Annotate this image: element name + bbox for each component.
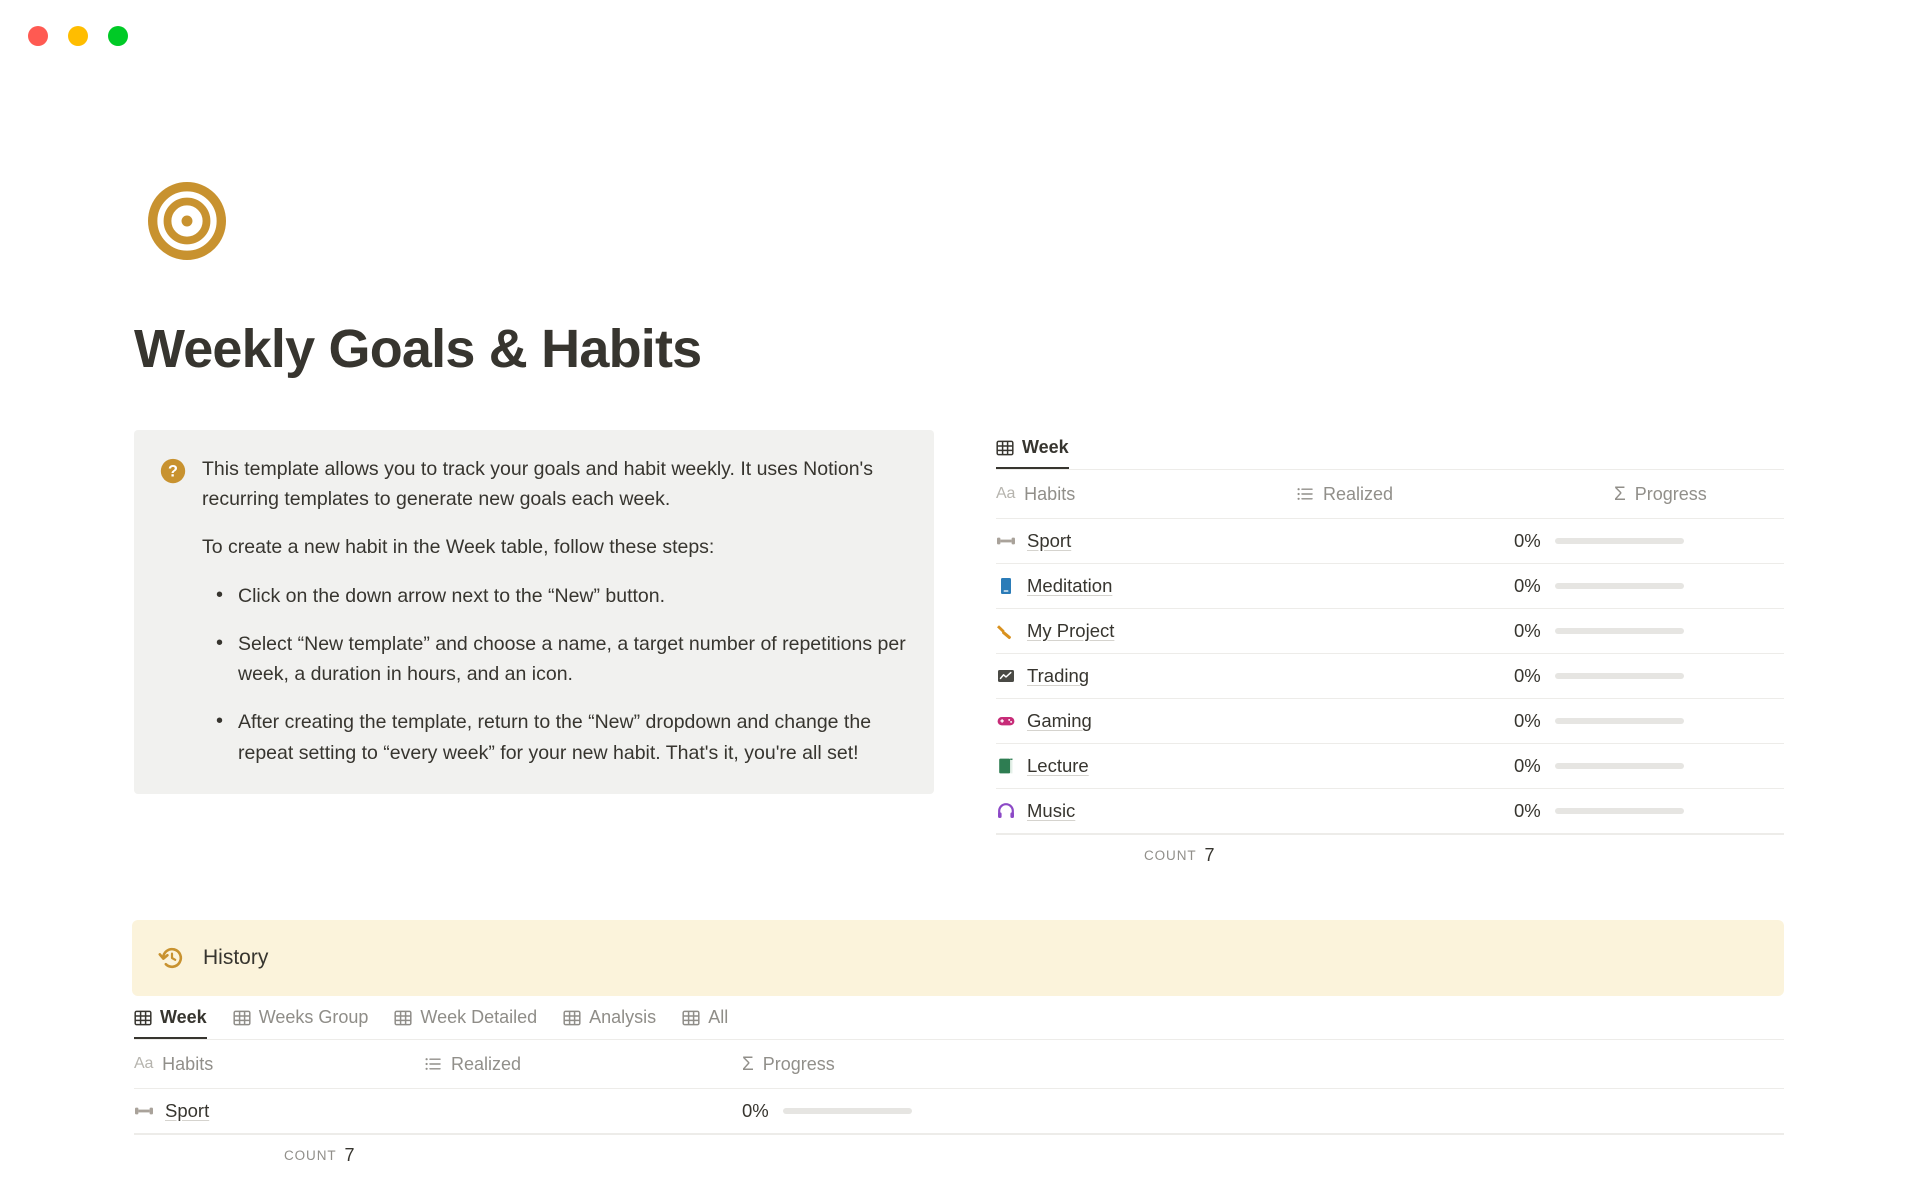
table-icon: [563, 1009, 581, 1027]
row-progress-cell[interactable]: 0%: [1514, 530, 1684, 552]
row-progress-cell[interactable]: 0%: [1514, 620, 1684, 642]
table-row[interactable]: Gaming 0%: [996, 699, 1784, 744]
tab-week-detailed-label: Week Detailed: [420, 1007, 537, 1028]
row-name-cell[interactable]: Trading: [996, 665, 1247, 687]
database-footer-right[interactable]: COUNT 7: [996, 834, 1784, 876]
row-name-cell[interactable]: Meditation: [996, 575, 1247, 597]
count-value: 7: [1205, 845, 1215, 866]
row-progress-cell[interactable]: 0%: [742, 1100, 912, 1122]
row-progress-cell[interactable]: 0%: [1514, 755, 1684, 777]
chart-increasing-icon: [996, 666, 1016, 686]
row-title[interactable]: Trading: [1027, 665, 1089, 687]
blue-book-icon: [996, 576, 1016, 596]
column-header-progress[interactable]: Σ Progress: [1614, 484, 1784, 505]
table-icon: [996, 439, 1014, 457]
row-name-cell[interactable]: Gaming: [996, 710, 1247, 732]
tab-all-label: All: [708, 1007, 728, 1028]
row-name-cell[interactable]: Sport: [134, 1100, 424, 1122]
tab-week-label: Week: [1022, 437, 1069, 458]
row-title[interactable]: Music: [1027, 800, 1075, 822]
table-row[interactable]: Sport 0%: [134, 1089, 1784, 1134]
row-title[interactable]: Sport: [1027, 530, 1071, 552]
progress-bar: [1555, 808, 1684, 814]
tab-week-detailed[interactable]: Week Detailed: [394, 1007, 537, 1039]
column-header-progress-label: Progress: [1635, 484, 1707, 505]
progress-percent: 0%: [1514, 665, 1541, 687]
progress-bar: [1555, 538, 1684, 544]
tab-all[interactable]: All: [682, 1007, 728, 1039]
row-progress-cell[interactable]: 0%: [1514, 800, 1684, 822]
table-row[interactable]: Music 0%: [996, 789, 1784, 834]
column-header-habits-label: Habits: [1024, 484, 1075, 505]
tab-analysis[interactable]: Analysis: [563, 1007, 656, 1039]
table-icon: [134, 1009, 152, 1027]
row-title[interactable]: Sport: [165, 1100, 209, 1122]
info-callout: ? This template allows you to track your…: [134, 430, 934, 794]
dumbbell-icon: [996, 531, 1016, 551]
column-header-habits[interactable]: Aa Habits: [134, 1054, 424, 1075]
database-footer-bottom[interactable]: COUNT 7: [134, 1134, 1784, 1176]
table-row[interactable]: Meditation 0%: [996, 564, 1784, 609]
video-game-controller-icon: [996, 711, 1016, 731]
table-icon: [682, 1009, 700, 1027]
question-mark-circle-icon: ?: [160, 458, 186, 484]
count-value: 7: [345, 1145, 355, 1166]
tab-weeks-group[interactable]: Weeks Group: [233, 1007, 369, 1039]
page-content: Weekly Goals & Habits ? This template al…: [0, 0, 1920, 1200]
svg-text:?: ?: [168, 463, 178, 481]
progress-bar: [1555, 628, 1684, 634]
table-icon: [233, 1009, 251, 1027]
headphone-icon: [996, 801, 1016, 821]
database-view-tabs-right: Week: [996, 430, 1784, 470]
count-label: COUNT: [284, 1148, 337, 1163]
history-callout[interactable]: History: [132, 920, 1784, 996]
tab-weeks-group-label: Weeks Group: [259, 1007, 369, 1028]
callout-step-3: After creating the template, return to t…: [238, 707, 906, 767]
tab-analysis-label: Analysis: [589, 1007, 656, 1028]
progress-percent: 0%: [1514, 755, 1541, 777]
list-icon: [1296, 485, 1314, 503]
week-database-right: Week Aa Habits Real: [996, 430, 1784, 876]
row-title[interactable]: Lecture: [1027, 755, 1089, 777]
row-name-cell[interactable]: Music: [996, 800, 1247, 822]
progress-bar: [1555, 718, 1684, 724]
hammer-icon: [996, 621, 1016, 641]
table-row[interactable]: Lecture 0%: [996, 744, 1784, 789]
column-header-habits[interactable]: Aa Habits: [996, 484, 1296, 505]
history-label: History: [203, 946, 268, 970]
sigma-formula-icon: Σ: [1614, 485, 1626, 504]
history-clock-icon: [158, 944, 186, 972]
dumbbell-icon: [134, 1101, 154, 1121]
column-header-realized-label: Realized: [451, 1054, 521, 1075]
progress-percent: 0%: [1514, 710, 1541, 732]
aa-text-icon: Aa: [134, 1055, 153, 1073]
row-title[interactable]: Meditation: [1027, 575, 1112, 597]
row-progress-cell[interactable]: 0%: [1514, 710, 1684, 732]
column-header-realized[interactable]: Realized: [424, 1054, 742, 1075]
table-row[interactable]: Trading 0%: [996, 654, 1784, 699]
callout-step-2: Select “New template” and choose a name,…: [238, 629, 906, 689]
row-name-cell[interactable]: Sport: [996, 530, 1247, 552]
table-icon: [394, 1009, 412, 1027]
progress-bar: [783, 1108, 912, 1114]
green-book-icon: [996, 756, 1016, 776]
aa-text-icon: Aa: [996, 485, 1015, 503]
row-title[interactable]: My Project: [1027, 620, 1114, 642]
tab-week-label: Week: [160, 1007, 207, 1028]
page-title: Weekly Goals & Habits: [134, 320, 701, 379]
callout-step-1: Click on the down arrow next to the “New…: [238, 581, 906, 611]
tab-week[interactable]: Week: [996, 437, 1069, 469]
row-progress-cell[interactable]: 0%: [1514, 665, 1684, 687]
callout-paragraph-2: To create a new habit in the Week table,…: [202, 532, 906, 562]
tab-week[interactable]: Week: [134, 1007, 207, 1039]
sigma-formula-icon: Σ: [742, 1055, 754, 1074]
info-callout-body: This template allows you to track your g…: [202, 454, 906, 768]
column-header-habits-label: Habits: [162, 1054, 213, 1075]
column-header-progress[interactable]: Σ Progress: [742, 1054, 912, 1075]
row-progress-cell[interactable]: 0%: [1514, 575, 1684, 597]
table-row[interactable]: Sport 0%: [996, 519, 1784, 564]
column-header-realized-label: Realized: [1323, 484, 1393, 505]
row-title[interactable]: Gaming: [1027, 710, 1092, 732]
progress-percent: 0%: [1514, 800, 1541, 822]
list-icon: [424, 1055, 442, 1073]
row-name-cell[interactable]: Lecture: [996, 755, 1247, 777]
column-header-realized[interactable]: Realized: [1296, 484, 1614, 505]
progress-percent: 0%: [1514, 530, 1541, 552]
column-header-progress-label: Progress: [763, 1054, 835, 1075]
database-header-row-right: Aa Habits Realized Σ P: [996, 470, 1784, 519]
callout-steps-list: Click on the down arrow next to the “New…: [202, 581, 906, 768]
database-header-row-bottom: Aa Habits Realized Σ P: [134, 1040, 1784, 1089]
progress-bar: [1555, 763, 1684, 769]
progress-bar: [1555, 583, 1684, 589]
progress-percent: 0%: [1514, 620, 1541, 642]
progress-bar: [1555, 673, 1684, 679]
row-name-cell[interactable]: My Project: [996, 620, 1247, 642]
progress-percent: 0%: [742, 1100, 769, 1122]
progress-percent: 0%: [1514, 575, 1541, 597]
count-label: COUNT: [1144, 848, 1197, 863]
database-view-tabs-bottom: Week Weeks Group: [134, 1000, 1784, 1040]
bullseye-target-icon[interactable]: [148, 182, 226, 260]
table-row[interactable]: My Project 0%: [996, 609, 1784, 654]
week-database-bottom: Week Weeks Group: [134, 1000, 1784, 1176]
callout-paragraph-1: This template allows you to track your g…: [202, 454, 906, 514]
